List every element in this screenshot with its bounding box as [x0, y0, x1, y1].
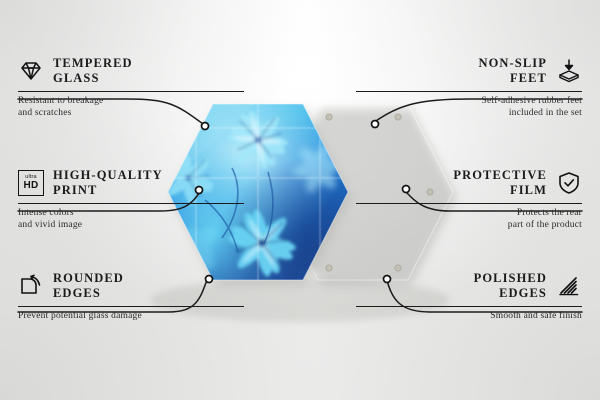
feature-divider	[18, 203, 244, 204]
feature-title-line1: TEMPERED	[53, 56, 133, 71]
feature-desc-line1: Self-adhesive rubber feet	[356, 96, 582, 108]
feature-description: Intense colors and vivid image	[18, 208, 244, 231]
feature-rounded-edges: ROUNDED EDGES Prevent potential glass da…	[18, 271, 244, 323]
feature-divider	[356, 203, 582, 204]
feature-title-line2: EDGES	[53, 286, 124, 301]
ultra-hd-icon-bottom: HD	[23, 181, 38, 191]
feature-desc-line1: Resistant to breakage	[18, 96, 244, 108]
feature-high-quality-print: ultra HD HIGH-QUALITY PRINT Intense colo…	[18, 168, 244, 231]
feature-description: Smooth and safe finish	[356, 311, 582, 323]
feature-tempered-glass: TEMPERED GLASS Resistant to breakage and…	[18, 56, 244, 119]
feature-title: PROTECTIVE FILM	[453, 168, 547, 198]
hatched-bevel-icon	[556, 273, 582, 299]
feature-description: Self-adhesive rubber feet included in th…	[356, 96, 582, 119]
diamond-icon	[18, 58, 44, 84]
feature-desc-line2: included in the set	[356, 108, 582, 120]
feature-description: Prevent potential glass damage	[18, 311, 244, 323]
infographic-canvas: TEMPERED GLASS Resistant to breakage and…	[0, 0, 600, 400]
feature-title-line2: FEET	[478, 71, 547, 86]
feature-desc-line1: Prevent potential glass damage	[18, 311, 244, 323]
feature-desc-line2: part of the product	[356, 220, 582, 232]
feature-title-line2: FILM	[453, 183, 547, 198]
feature-non-slip-feet: NON-SLIP FEET Self-adhesive rubber feet …	[356, 56, 582, 119]
feature-divider	[356, 91, 582, 92]
feature-title-line1: ROUNDED	[53, 271, 124, 286]
feature-desc-line2: and vivid image	[18, 220, 244, 232]
feature-title: NON-SLIP FEET	[478, 56, 547, 86]
feature-title-line1: HIGH-QUALITY	[53, 168, 163, 183]
ultra-hd-icon: ultra HD	[18, 170, 44, 196]
feature-title: ROUNDED EDGES	[53, 271, 124, 301]
connector-dot	[202, 123, 209, 130]
feature-description: Resistant to breakage and scratches	[18, 96, 244, 119]
feature-divider	[18, 306, 244, 307]
feature-title-line2: GLASS	[53, 71, 133, 86]
feature-desc-line1: Smooth and safe finish	[356, 311, 582, 323]
feature-title-line1: PROTECTIVE	[453, 168, 547, 183]
feature-divider	[18, 91, 244, 92]
feature-title: POLISHED EDGES	[474, 271, 547, 301]
feature-title-line2: PRINT	[53, 183, 163, 198]
feature-title: HIGH-QUALITY PRINT	[53, 168, 163, 198]
feature-title-line1: POLISHED	[474, 271, 547, 286]
feature-title: TEMPERED GLASS	[53, 56, 133, 86]
feature-desc-line1: Protects the rear	[356, 208, 582, 220]
feature-desc-line2: and scratches	[18, 108, 244, 120]
feature-polished-edges: POLISHED EDGES Smooth and safe finish	[356, 271, 582, 323]
press-foot-icon	[556, 58, 582, 84]
feature-divider	[356, 306, 582, 307]
shield-check-icon	[556, 170, 582, 196]
feature-description: Protects the rear part of the product	[356, 208, 582, 231]
feature-title-line2: EDGES	[474, 286, 547, 301]
feature-protective-film: PROTECTIVE FILM Protects the rear part o…	[356, 168, 582, 231]
rounded-corner-icon	[18, 273, 44, 299]
connector-dot	[372, 121, 379, 128]
feature-desc-line1: Intense colors	[18, 208, 244, 220]
feature-title-line1: NON-SLIP	[478, 56, 547, 71]
